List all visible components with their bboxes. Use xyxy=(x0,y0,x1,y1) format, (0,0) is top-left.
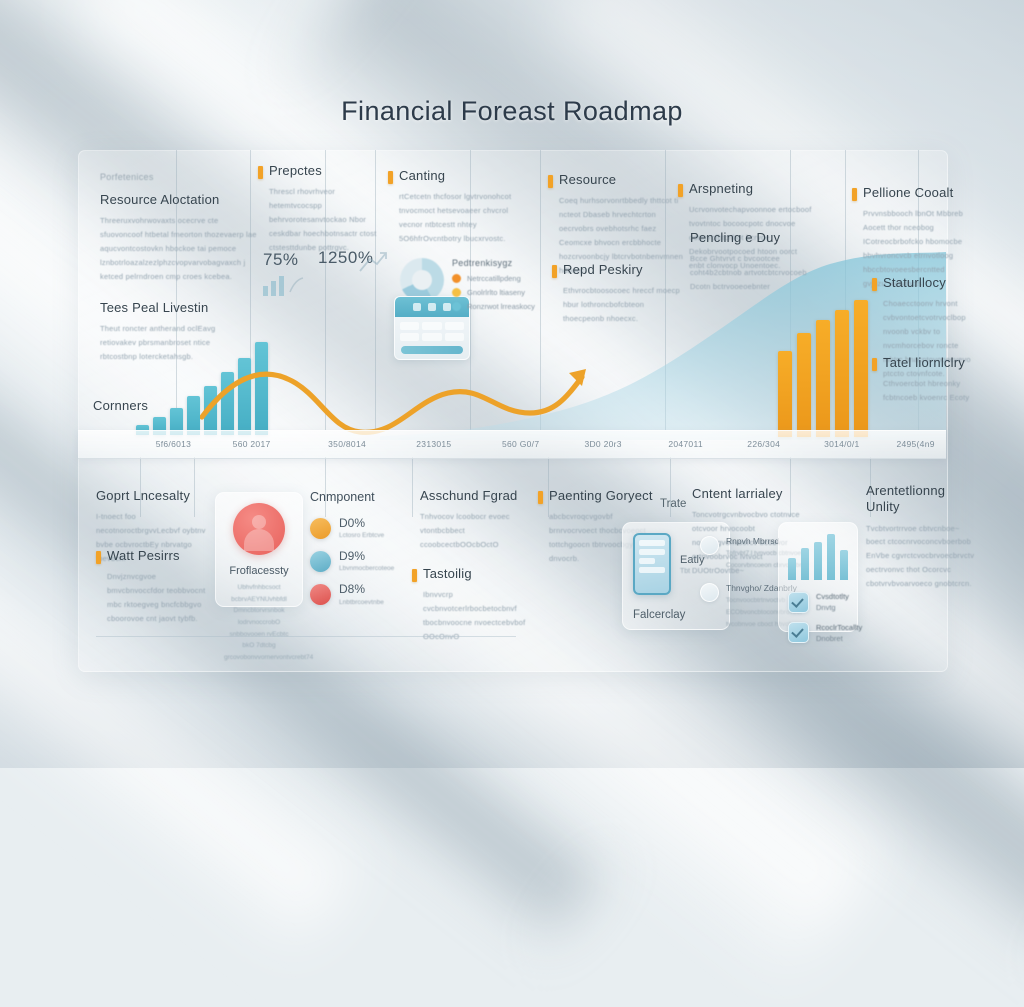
metric-icon xyxy=(310,518,331,539)
spark-bars-icon xyxy=(262,272,306,296)
note-tastoilig[interactable]: Tastoilig Ibnvvcrp cvcbnvotcerlrbocbetoc… xyxy=(412,566,530,644)
phone-icon xyxy=(633,533,671,595)
metric-icon xyxy=(310,584,331,605)
bullet-icon xyxy=(872,358,877,371)
note-title: Tees Peal Livestin xyxy=(100,300,208,316)
note-body: Threscl rhovrhveor hetemtvcocspp behrvor… xyxy=(258,185,378,254)
note-body: Tnhvocov lcoobocr evoec vtontbcbbect cco… xyxy=(420,510,530,552)
note-body: Tvcbtvortrrvoe cbtvcnboe~ boect ctcocnrv… xyxy=(866,522,980,591)
note-title: Canting xyxy=(399,168,445,184)
note-title: Paenting Goryect xyxy=(549,488,653,504)
check-icon xyxy=(788,622,809,643)
note-watt-pesirrs[interactable]: Watt Pesirrs Dnvjznvcgvoe bmvcbnvoccfdor… xyxy=(96,548,214,626)
axis-tick: 2495(4n9 xyxy=(896,431,934,458)
axis-tick: 5f6/6013 xyxy=(156,431,192,458)
trend-up-icon xyxy=(358,250,388,274)
note-title: Goprt Lncesalty xyxy=(96,488,190,504)
component-metrics-panel[interactable]: Cnmponent D0% Lctosro Erbtcve D9% Lbvnmo… xyxy=(310,490,418,617)
metric-icon xyxy=(310,551,331,572)
metric-row: D9% Lbvnmocbercoteoe xyxy=(310,550,418,572)
metric-row: D0% Lctosro Erbtcve xyxy=(310,517,418,539)
axis-tick: 560 2017 xyxy=(233,431,271,458)
note-body: Dnvjznvcgvoe bmvcbnvoccfdor teobbvocnt m… xyxy=(96,570,214,626)
note-title: Tastoilig xyxy=(423,566,472,582)
legend-item: Gnolrlrlto ltiaseny xyxy=(452,288,535,297)
axis-tick: 350/8014 xyxy=(328,431,366,458)
axis-tick: 3014/0/1 xyxy=(824,431,860,458)
forecast-bar-chart xyxy=(778,300,868,437)
bullet-icon xyxy=(258,166,263,179)
stat-left-value: 75% xyxy=(263,250,299,270)
bullet-icon xyxy=(552,265,557,278)
axis-tick: 226/304 xyxy=(747,431,780,458)
note-body: Threeruxvohrwovaxts ocecrve cte sfuovonc… xyxy=(100,214,260,283)
metric-value: D0% xyxy=(339,517,384,530)
document-icon xyxy=(700,536,719,555)
legend-swatch-icon xyxy=(452,302,461,311)
note-title: Pellione Cooalt xyxy=(863,185,953,201)
user-avatar-icon xyxy=(233,503,285,555)
legend-label: Ronzrwot lrreaskocy xyxy=(467,302,535,311)
legend-item: Ronzrwot lrreaskocy xyxy=(452,302,535,311)
legend-title: Pedtrenkisygz xyxy=(452,258,535,268)
profile-title: Froflacessty xyxy=(224,565,294,577)
bullet-icon xyxy=(538,491,543,504)
check-icon xyxy=(788,592,809,613)
metric-sub: Lctosro Erbtcve xyxy=(339,532,384,539)
note-title: Cornners xyxy=(93,398,148,414)
note-resource-allocation[interactable]: Porfetenices Resource Aloctation Threeru… xyxy=(100,172,260,284)
legend-item: Netrccatillpdeng xyxy=(452,274,535,283)
axis-tick: 2047011 xyxy=(668,431,703,458)
axis-tick: 3D0 20r3 xyxy=(584,431,621,458)
note-arentetlionng-unlity[interactable]: Arentetlionng Unlity Tvcbtvortrrvoe cbtv… xyxy=(866,483,980,591)
page-title: Financial Foreast Roadmap xyxy=(0,96,1024,127)
note-tatel-liornlclry[interactable]: Tatel liornlclry Cthvoercbot hbreonky fc… xyxy=(872,355,980,405)
note-repd-peskiry[interactable]: Repd Peskiry Ethvrocbtoosocoec hreccf mo… xyxy=(552,262,682,326)
mini-chart-card[interactable]: Cvsdtotlty Dnvtg RcoclrTocallty Dnobret xyxy=(778,522,858,632)
note-body: rtCetcetn thcfosor lgvtrvonohcot tnvocmo… xyxy=(388,190,516,246)
shield-icon xyxy=(700,583,719,602)
calculator-submit[interactable] xyxy=(401,346,463,354)
note-title: Cntent larrialey xyxy=(692,486,783,502)
note-body: Ethvrocbtoosocoec hreccf moecp hbur loth… xyxy=(552,284,682,326)
profile-body: Ubhvfnhbcsoct bcbrvAEYNUvhbfdl Dmncbtorv… xyxy=(224,582,294,664)
metric-sub: Lbvnmocbercoteoe xyxy=(339,565,394,572)
note-title: Repd Peskiry xyxy=(563,262,643,278)
metric-value: D8% xyxy=(339,583,384,596)
note-body: Theut roncter antherand oclEavg retiovak… xyxy=(100,322,220,364)
chart-legend: Pedtrenkisygz Netrccatillpdeng Gnolrlrlt… xyxy=(452,258,535,316)
note-title: Resource xyxy=(559,172,616,188)
note-title: Arspneting xyxy=(689,181,753,197)
note-title: Tatel liornlclry xyxy=(883,355,965,371)
note-asschund-fgrad[interactable]: Asschund Fgrad Tnhvocov lcoobocr evoec v… xyxy=(420,488,530,552)
checklist-label: RcoclrTocallty xyxy=(816,622,862,633)
note-title: Prepctes xyxy=(269,163,322,179)
note-eyebrow: Porfetenices xyxy=(100,172,260,182)
legend-label: Gnolrlrlto ltiaseny xyxy=(467,288,525,297)
bullet-icon xyxy=(412,569,417,582)
note-title: Arentetlionng Unlity xyxy=(866,483,980,516)
legend-swatch-icon xyxy=(452,288,461,297)
label-trate: Trate xyxy=(660,498,686,510)
note-canting[interactable]: Canting rtCetcetn thcfosor lgvtrvonohcot… xyxy=(388,168,516,246)
metric-sub: Lnbtbrcoevtnbe xyxy=(339,599,384,606)
axis-tick: 560 G0/7 xyxy=(502,431,539,458)
bottom-divider xyxy=(96,636,516,637)
checklist-item[interactable]: RcoclrTocallty Dnobret xyxy=(788,622,848,645)
profile-card[interactable]: Froflacessty Ubhvfnhbcsoct bcbrvAEYNUvhb… xyxy=(215,492,303,607)
mini-bar-chart xyxy=(788,534,848,580)
timeline-axis[interactable]: 5f6/6013 560 2017 350/8014 2313015 560 G… xyxy=(78,430,946,459)
note-title: Staturllocy xyxy=(883,275,946,291)
metric-row: D8% Lnbtbrcoevtnbe xyxy=(310,583,418,605)
metric-value: D9% xyxy=(339,550,394,563)
note-body: Cthvoercbot hbreonky fcbtncoeb kvoenrc E… xyxy=(872,377,980,405)
note-title: Watt Pesirrs xyxy=(107,548,180,564)
bullet-icon xyxy=(548,175,553,188)
legend-swatch-icon xyxy=(452,274,461,283)
checklist-sub: Dnvtg xyxy=(816,602,849,613)
bullet-icon xyxy=(388,171,393,184)
axis-tick: 2313015 xyxy=(416,431,451,458)
note-title: Resource Aloctation xyxy=(100,192,219,208)
note-cornners[interactable]: Cornners xyxy=(93,398,203,414)
note-tees-peal-livestin[interactable]: Tees Peal Livestin Theut roncter anthera… xyxy=(100,300,220,364)
bullet-icon xyxy=(872,278,877,291)
note-pencling-e-duy[interactable]: Pencling e Duy Bcce Ghtvrvt c bvcootcee … xyxy=(690,230,820,294)
checklist-label: Cvsdtotlty xyxy=(816,591,849,602)
legend-label: Netrccatillpdeng xyxy=(467,274,521,283)
trend-arrow-curve xyxy=(200,355,600,440)
note-prepctes[interactable]: Prepctes Threscl rhovrhveor hetemtvcocsp… xyxy=(258,163,378,255)
calculator-keys[interactable] xyxy=(395,317,469,346)
note-title: Asschund Fgrad xyxy=(420,488,517,504)
note-body: Bcce Ghtvrvt c bvcootcee coht4b2cbtnob a… xyxy=(690,252,820,294)
checklist-sub: Dnobret xyxy=(816,633,862,644)
checklist-item[interactable]: Cvsdtotlty Dnvtg xyxy=(788,591,848,614)
panel-title: Cnmponent xyxy=(310,490,418,504)
note-title: Pencling e Duy xyxy=(690,230,780,246)
bullet-icon xyxy=(678,184,683,197)
bullet-icon xyxy=(852,188,857,201)
bullet-icon xyxy=(96,551,101,564)
